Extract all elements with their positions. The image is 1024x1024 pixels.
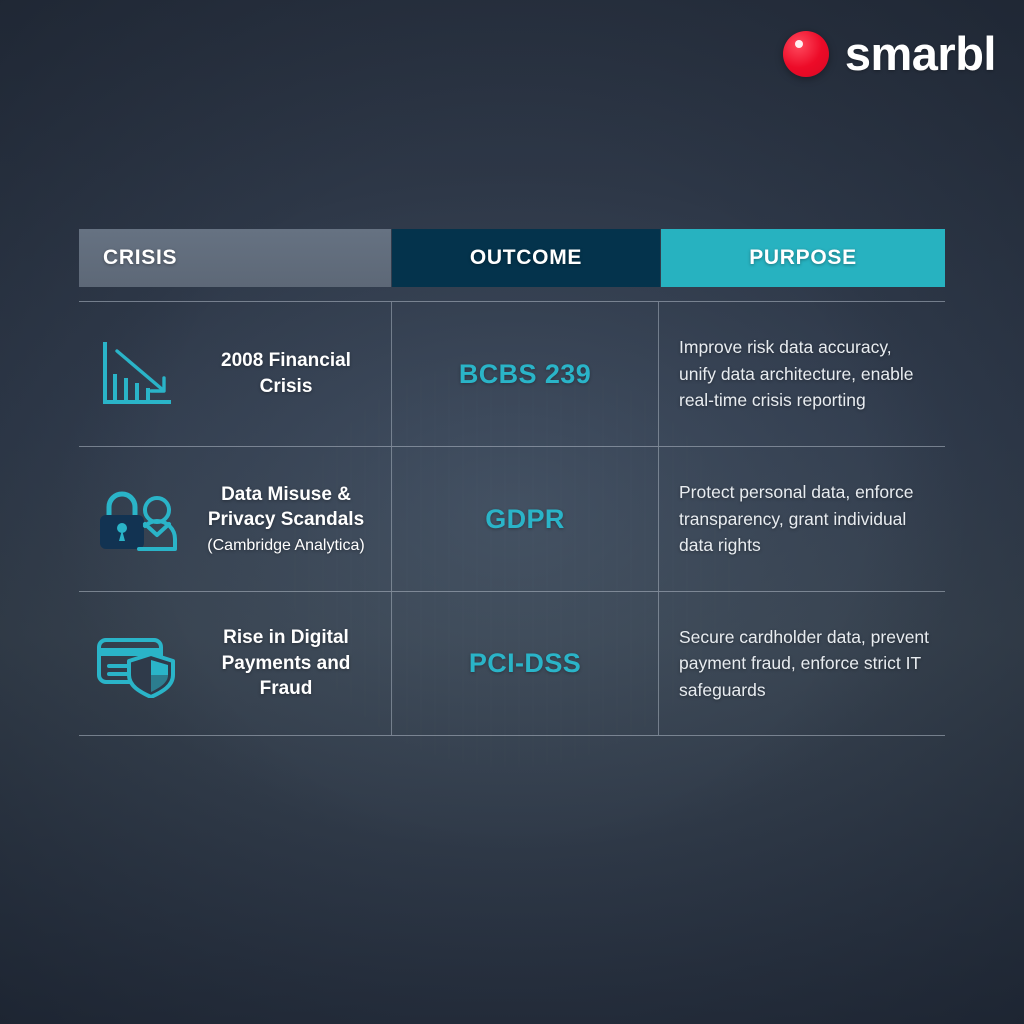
outcome-label: BCBS 239 (459, 359, 591, 390)
cell-outcome: GDPR (391, 447, 659, 591)
crisis-title: 2008 Financial Crisis (221, 350, 351, 397)
table-body: 2008 Financial Crisis BCBS 239 Improve r… (79, 301, 945, 736)
outcome-label: PCI-DSS (469, 648, 581, 679)
table-row: Data Misuse & Privacy Scandals (Cambridg… (79, 446, 945, 591)
column-header-outcome: OUTCOME (392, 229, 660, 287)
cell-outcome: BCBS 239 (391, 302, 659, 446)
column-header-purpose: PURPOSE (661, 229, 945, 287)
lock-with-person-icon (89, 483, 185, 555)
brand-logo: smarbl (783, 30, 996, 77)
crisis-title: Rise in Digital Payments and Fraud (222, 627, 351, 699)
brand-name: smarbl (845, 30, 996, 77)
crisis-title: Data Misuse & Privacy Scandals (208, 484, 364, 531)
cell-outcome: PCI-DSS (391, 592, 659, 735)
cell-crisis: 2008 Financial Crisis (79, 302, 391, 446)
cell-purpose: Secure cardholder data, prevent payment … (659, 592, 945, 735)
cell-crisis: Rise in Digital Payments and Fraud (79, 592, 391, 735)
declining-bar-chart-arrow-icon (89, 338, 185, 410)
purpose-label: Protect personal data, enforce transpare… (679, 479, 931, 559)
crisis-label: 2008 Financial Crisis (195, 348, 377, 399)
comparison-table: CRISIS OUTCOME PURPOSE (79, 229, 945, 736)
red-circle-dot-icon (783, 31, 829, 77)
crisis-label: Data Misuse & Privacy Scandals (Cambridg… (195, 482, 377, 557)
cell-purpose: Protect personal data, enforce transpare… (659, 447, 945, 591)
table-row: 2008 Financial Crisis BCBS 239 Improve r… (79, 301, 945, 446)
credit-card-shield-icon (89, 630, 185, 698)
purpose-label: Improve risk data accuracy, unify data a… (679, 334, 931, 414)
cell-purpose: Improve risk data accuracy, unify data a… (659, 302, 945, 446)
purpose-label: Secure cardholder data, prevent payment … (679, 624, 931, 704)
crisis-subtitle: (Cambridge Analytica) (195, 535, 377, 557)
cell-crisis: Data Misuse & Privacy Scandals (Cambridg… (79, 447, 391, 591)
crisis-label: Rise in Digital Payments and Fraud (195, 625, 377, 702)
table-header-row: CRISIS OUTCOME PURPOSE (79, 229, 945, 287)
outcome-label: GDPR (485, 504, 565, 535)
column-header-crisis: CRISIS (79, 229, 391, 287)
table-row: Rise in Digital Payments and Fraud PCI-D… (79, 591, 945, 736)
